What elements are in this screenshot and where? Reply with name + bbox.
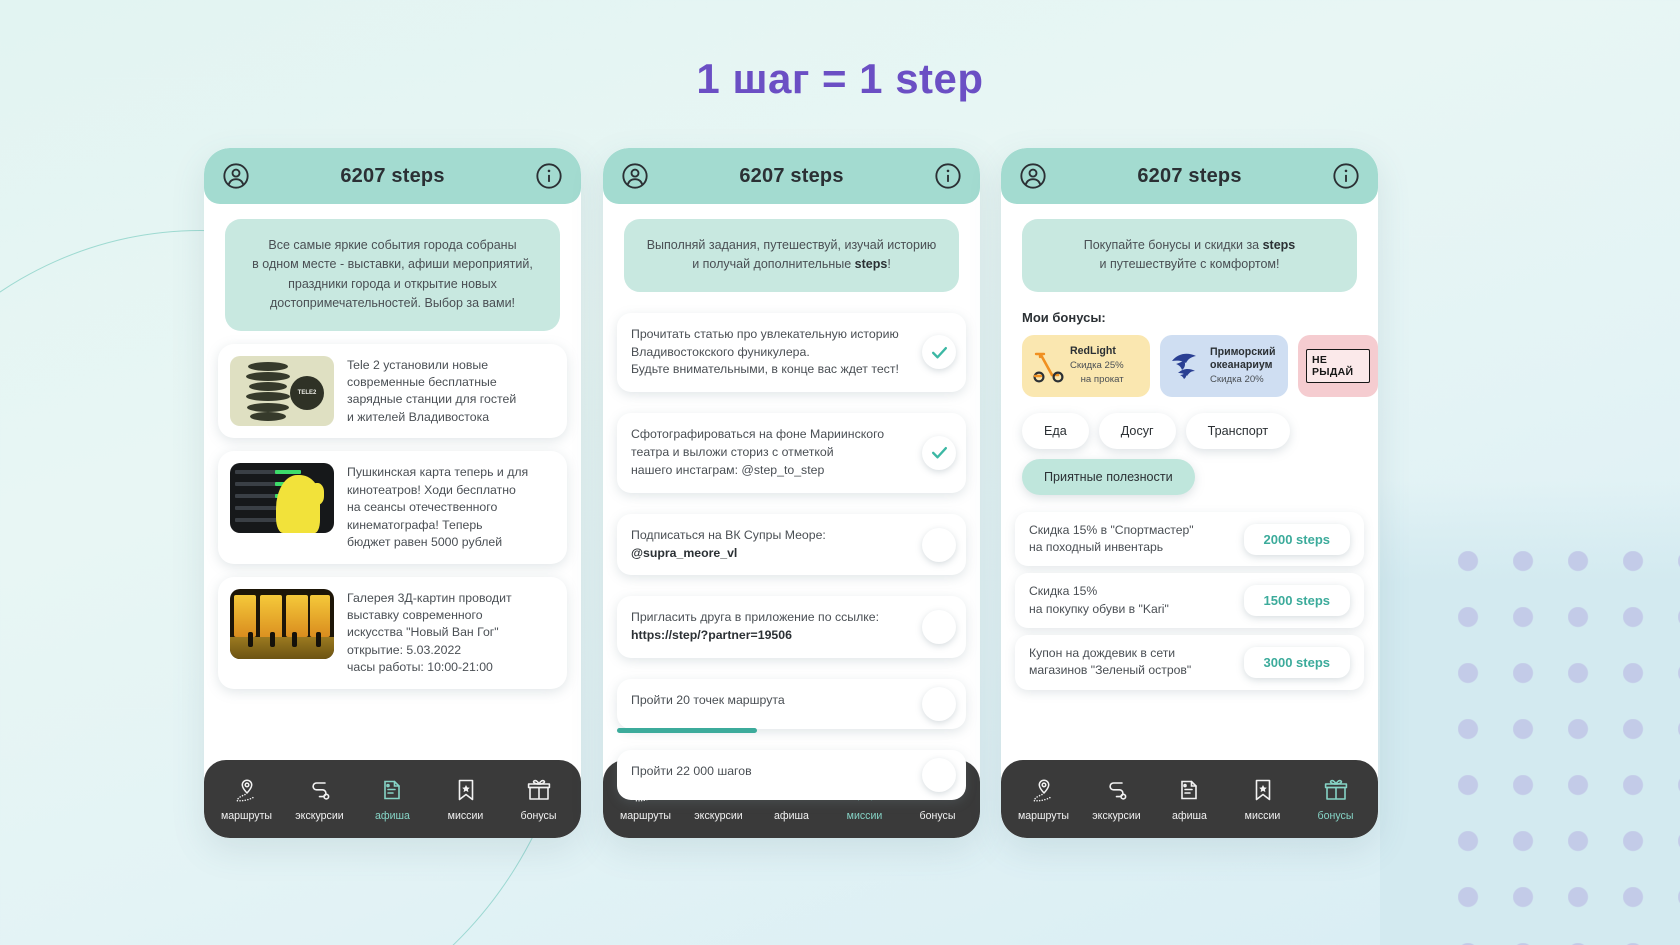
nav-item-ekskursii[interactable]: экскурсии [287,777,353,822]
bonus-category-chips: Еда Досуг Транспорт Приятные полезности [1022,413,1357,495]
news-line: кинематографа! Теперь [347,517,528,534]
bonus-card-neryday[interactable]: НЕ РЫДАЙ [1298,335,1378,397]
nav-label: бонусы [1318,810,1354,822]
nav-label: экскурсии [694,810,742,822]
mission-line: Сфотографироваться на фоне Мариинского [631,426,908,444]
user-circle-icon[interactable] [621,162,649,190]
news-line: Tele 2 установили новые [347,357,516,374]
mission-checkbox-checked[interactable] [922,335,956,369]
my-bonuses-label: Мои бонусы: [1022,310,1357,325]
mission-progress-bar [617,728,757,733]
mission-card[interactable]: Пройти 20 точек маршрута [617,679,966,729]
nav-label: маршруты [620,810,671,822]
mission-item[interactable]: 2000 steps Пройти 20 точек маршрута [617,679,966,729]
pushkin-card-cinema-photo [230,463,334,533]
mission-line: Владивостокского фуникулера. [631,344,908,362]
banner-line: и путешествуйте с комфортом! [1038,255,1341,274]
bonuses-intro-banner: Покупайте бонусы и скидки за steps и пут… [1022,219,1357,292]
missions-body: Выполняй задания, путешествуй, изучай ис… [603,219,980,838]
banner-line: и получай дополнительные steps! [640,255,943,274]
nav-label: миссии [847,810,883,822]
offer-row[interactable]: Скидка 15% в "Спортмастер" на походный и… [1015,512,1364,567]
news-line: искусства "Новый Ван Гог" [347,624,512,641]
phone-screen-afisha: 6207 steps Все самые яркие события город… [204,148,581,838]
tele2-charging-station-photo: TELE2 [230,356,334,426]
bonus-discount: Скидка 25% [1070,360,1124,372]
banner-line: достопримечательностей. Выбор за вами! [241,294,544,313]
news-card[interactable]: Галерея 3Д-картин проводит выставку совр… [218,577,567,689]
vintage-sign-icon: НЕ РЫДАЙ [1306,349,1370,383]
offer-line: Скидка 15% в "Спортмастер" [1029,522,1194,539]
offer-line: магазинов "Зеленый остров" [1029,662,1191,679]
nav-item-bonusy[interactable]: бонусы [1303,777,1369,822]
chip-dosug[interactable]: Досуг [1099,413,1176,449]
steps-word: steps [1263,238,1296,252]
mission-card[interactable]: Сфотографироваться на фоне Мариинского т… [617,413,966,492]
bonus-card-row: RedLight Скидка 25% на прокат Приморский… [1022,335,1364,397]
bonus-name: RedLight [1070,345,1124,358]
bonus-card-oceanarium[interactable]: Приморский океанариум Скидка 20% [1160,335,1288,397]
mission-item[interactable]: 2000 steps Пройти 22 000 шагов [617,750,966,800]
mission-checkbox-unchecked[interactable] [922,758,956,792]
mission-line: Подписаться на ВК Супры Меоре: [631,527,908,545]
banner-line: в одном месте - выставки, афиши мероприя… [241,255,544,274]
nav-label: афиша [1172,810,1207,822]
phone-screen-bonuses: 6207 steps Покупайте бонусы и скидки за … [1001,148,1378,838]
news-line: зарядные станции для гостей [347,391,516,408]
nav-label: афиша [375,810,410,822]
offer-price[interactable]: 1500 steps [1244,585,1351,616]
bonus-text: RedLight Скидка 25% на прокат [1070,345,1124,386]
news-line: Галерея 3Д-картин проводит [347,590,512,607]
bottom-navigation: маршруты экскурсии афиша миссии [1001,760,1378,838]
banner-line: Все самые яркие события города собраны [241,236,544,255]
news-line: бюджет равен 5000 рублей [347,534,528,551]
mission-line: Прочитать статью про увлекательную истор… [631,326,908,344]
bonus-detail: на прокат [1070,374,1124,386]
nav-label: маршруты [221,810,272,822]
news-text: Галерея 3Д-картин проводит выставку совр… [347,589,512,677]
mission-card[interactable]: Прочитать статью про увлекательную истор… [617,313,966,392]
nav-label: бонусы [521,810,557,822]
mission-checkbox-unchecked[interactable] [922,528,956,562]
offer-price[interactable]: 2000 steps [1244,524,1351,555]
nav-label: экскурсии [1092,810,1140,822]
bonus-card-redlight[interactable]: RedLight Скидка 25% на прокат [1022,335,1150,397]
offer-row[interactable]: Купон на дождевик в сети магазинов "Зеле… [1015,635,1364,690]
dolphins-icon [1168,346,1204,386]
news-card[interactable]: Пушкинская карта теперь и для кинотеатро… [218,451,567,563]
mission-card[interactable]: Подписаться на ВК Супры Меоре: @supra_me… [617,514,966,576]
bottom-navigation: маршруты экскурсии афиша миссии [204,760,581,838]
chip-priyatnye-poleznosti[interactable]: Приятные полезности [1022,459,1195,495]
pushkin-bust [276,475,320,533]
news-line: открытие: 5.03.2022 [347,642,512,659]
news-line: выставку современного [347,607,512,624]
banner-line: Покупайте бонусы и скидки за steps [1038,236,1341,255]
missions-intro-banner: Выполняй задания, путешествуй, изучай ис… [624,219,959,292]
nav-item-afisha[interactable]: афиша [360,777,426,822]
user-circle-icon[interactable] [1019,162,1047,190]
app-header: 6207 steps [1001,148,1378,204]
mission-link: @supra_meore_vl [631,546,737,560]
banner-line: Выполняй задания, путешествуй, изучай ис… [640,236,943,255]
news-line: кинотеатров! Ходи бесплатно [347,482,528,499]
user-circle-icon[interactable] [222,162,250,190]
mission-line: нашего инстаграм: @step_to_step [631,462,908,480]
chip-eda[interactable]: Еда [1022,413,1089,449]
afisha-body: Все самые яркие события города собраны в… [204,219,581,838]
info-circle-icon[interactable] [1332,162,1360,190]
news-line: и жителей Владивостока [347,409,516,426]
tele2-logo: TELE2 [290,376,324,410]
mission-checkbox-checked[interactable] [922,436,956,470]
info-circle-icon[interactable] [535,162,563,190]
mission-line: Пройти 22 000 шагов [631,763,908,781]
offer-line: Скидка 15% [1029,583,1169,600]
news-text: Пушкинская карта теперь и для кинотеатро… [347,463,528,551]
nav-item-missii[interactable]: миссии [1230,777,1296,822]
mission-line: театра и выложи сториз с отметкой [631,444,908,462]
nav-label: афиша [774,810,809,822]
news-text: Tele 2 установили новые современные бесп… [347,356,516,427]
offer-text: Купон на дождевик в сети магазинов "Зеле… [1029,645,1191,680]
mission-item[interactable]: 2000 steps Подписаться на ВК Супры Меоре… [617,514,966,576]
nav-item-afisha[interactable]: афиша [1157,777,1223,822]
nav-label: миссии [1245,810,1281,822]
app-header: 6207 steps [603,148,980,204]
mission-card[interactable]: Пригласить друга в приложение по ссылке:… [617,596,966,658]
bonus-discount: Скидка 20% [1210,374,1275,386]
mission-checkbox-unchecked[interactable] [922,610,956,644]
offer-text: Скидка 15% в "Спортмастер" на походный и… [1029,522,1194,557]
mission-item[interactable]: 2000 steps Пригласить друга в приложение… [617,596,966,658]
offer-row[interactable]: Скидка 15% на покупку обуви в "Kari" 150… [1015,573,1364,628]
info-circle-icon[interactable] [934,162,962,190]
phone-screen-missions: 6207 steps Выполняй задания, путешествуй… [603,148,980,838]
mission-item[interactable]: 2000 steps Прочитать статью про увлекате… [617,313,966,392]
steps-counter: 6207 steps [1137,165,1241,188]
steps-counter: 6207 steps [739,165,843,188]
nav-label: экскурсии [295,810,343,822]
banner-line: праздники города и открытие новых [241,275,544,294]
mission-line: Пригласить друга в приложение по ссылке: [631,609,908,627]
offer-price[interactable]: 3000 steps [1244,647,1351,678]
news-line: часы работы: 10:00-21:00 [347,659,512,676]
offer-line: на походный инвентарь [1029,539,1194,556]
nav-label: маршруты [1018,810,1069,822]
mission-link: https://step/?partner=19506 [631,628,792,642]
nav-item-bonusy[interactable]: бонусы [506,777,572,822]
bonuses-body: Покупайте бонусы и скидки за steps и пут… [1001,219,1378,838]
offer-list: Скидка 15% в "Спортмастер" на походный и… [1015,512,1364,690]
mission-item[interactable]: 1500 steps Сфотографироваться на фоне Ма… [617,413,966,492]
bonus-text: Приморский океанариум Скидка 20% [1210,346,1275,386]
nav-item-marshruty[interactable]: маршруты [214,777,280,822]
bonus-name: Приморский океанариум [1210,346,1275,372]
offer-line: Купон на дождевик в сети [1029,645,1191,662]
mission-checkbox-unchecked[interactable] [922,687,956,721]
offer-line: на покупку обуви в "Kari" [1029,601,1169,618]
news-card[interactable]: TELE2 Tele 2 установили новые современны… [218,344,567,439]
nav-label: миссии [448,810,484,822]
mission-line: Будьте внимательными, в конце вас ждет т… [631,361,908,379]
nav-item-marshruty[interactable]: маршруты [1011,777,1077,822]
news-line: на сеансы отечественного [347,499,528,516]
nav-label: бонусы [920,810,956,822]
van-gogh-gallery-photo [230,589,334,659]
background-dot-pattern [1448,543,1680,945]
page-title: 1 шаг = 1 step [0,55,1680,103]
nav-item-missii[interactable]: миссии [433,777,499,822]
offer-text: Скидка 15% на покупку обуви в "Kari" [1029,583,1169,618]
steps-word: steps [855,257,888,271]
news-line: Пушкинская карта теперь и для [347,464,528,481]
mission-list: 2000 steps Прочитать статью про увлекате… [617,313,966,800]
news-line: современные бесплатные [347,374,516,391]
app-header: 6207 steps [204,148,581,204]
background-blue-wash [1380,480,1680,945]
chip-transport[interactable]: Транспорт [1186,413,1291,449]
afisha-intro-banner: Все самые яркие события города собраны в… [225,219,560,331]
steps-counter: 6207 steps [340,165,444,188]
mission-line: Пройти 20 точек маршрута [631,692,908,710]
mission-card[interactable]: Пройти 22 000 шагов [617,750,966,800]
nav-item-ekskursii[interactable]: экскурсии [1084,777,1150,822]
scooter-icon [1030,346,1064,386]
